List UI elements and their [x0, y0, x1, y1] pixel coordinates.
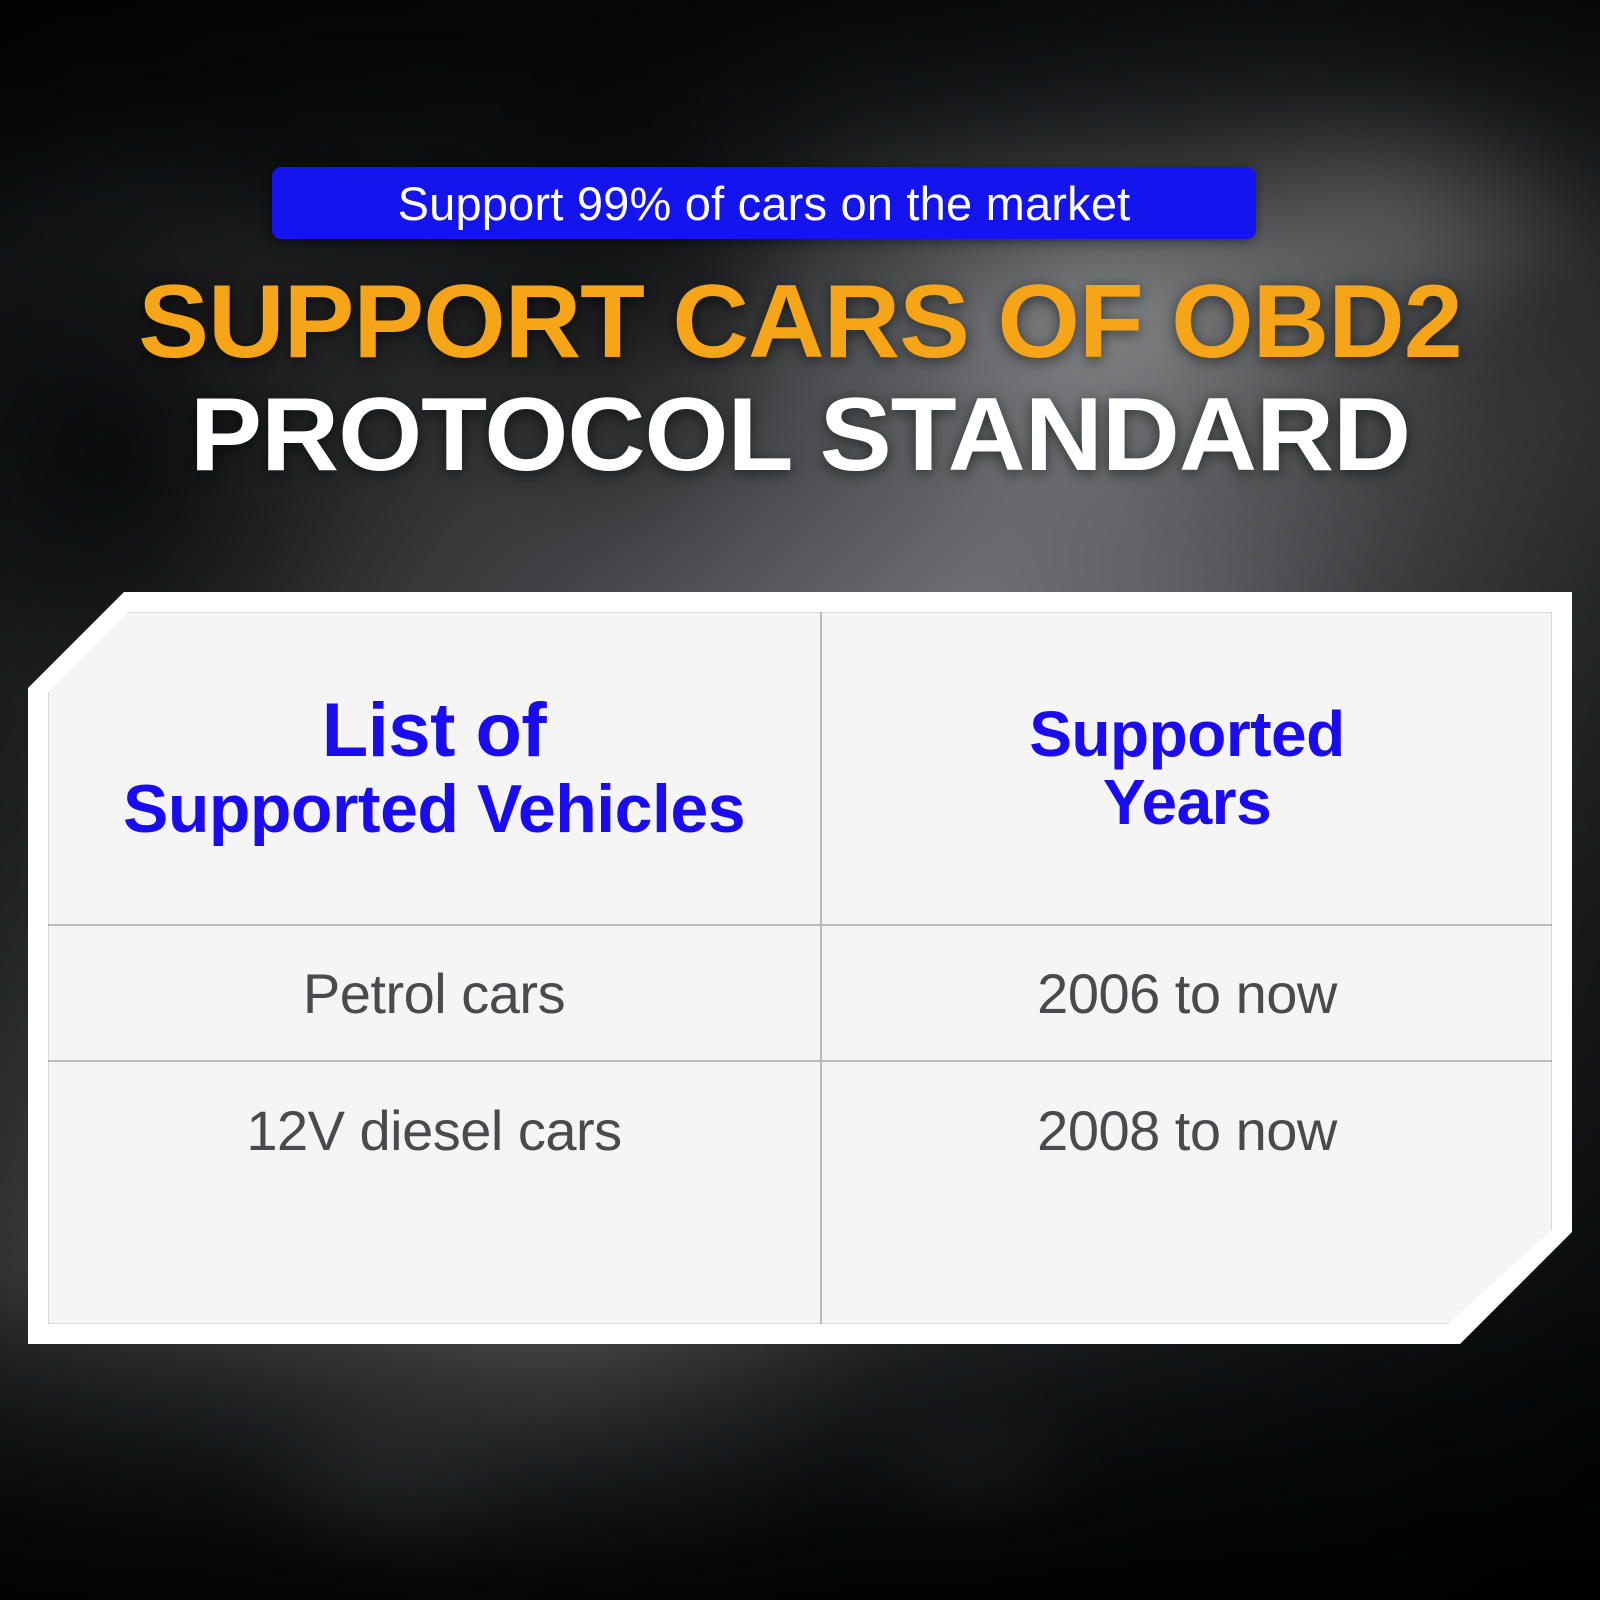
- table-header-years-line-2: Years: [1103, 770, 1271, 834]
- table-row: 2008 to now: [822, 1062, 1552, 1198]
- table-header-years: Supported Years: [822, 612, 1552, 924]
- table-row: Petrol cars: [48, 926, 820, 1060]
- table-row: 2006 to now: [822, 926, 1552, 1060]
- supported-vehicles-table: List of Supported Vehicles Supported Yea…: [48, 612, 1552, 1324]
- table-header-vehicles-line-2: Supported Vehicles: [123, 775, 745, 843]
- table-row: 12V diesel cars: [48, 1062, 820, 1198]
- cell-years-1: 2008 to now: [1037, 1098, 1337, 1163]
- table-header-years-line-1: Supported: [1029, 702, 1344, 766]
- banner-label: Support 99% of cars on the market: [398, 180, 1131, 227]
- table-header-vehicles: List of Supported Vehicles: [48, 612, 820, 924]
- supported-vehicles-card: List of Supported Vehicles Supported Yea…: [28, 592, 1572, 1344]
- page-title-line-2: PROTOCOL STANDARD: [0, 383, 1600, 487]
- cell-vehicle-1: 12V diesel cars: [246, 1098, 621, 1163]
- promo-banner-page: Support 99% of cars on the market SUPPOR…: [0, 0, 1600, 1600]
- table-header-vehicles-line-1: List of: [322, 693, 546, 769]
- cell-vehicle-0: Petrol cars: [303, 961, 565, 1026]
- page-title-line-1: SUPPORT CARS OF OBD2: [0, 270, 1600, 374]
- support-percentage-banner: Support 99% of cars on the market: [272, 167, 1256, 239]
- cell-years-0: 2006 to now: [1037, 961, 1337, 1026]
